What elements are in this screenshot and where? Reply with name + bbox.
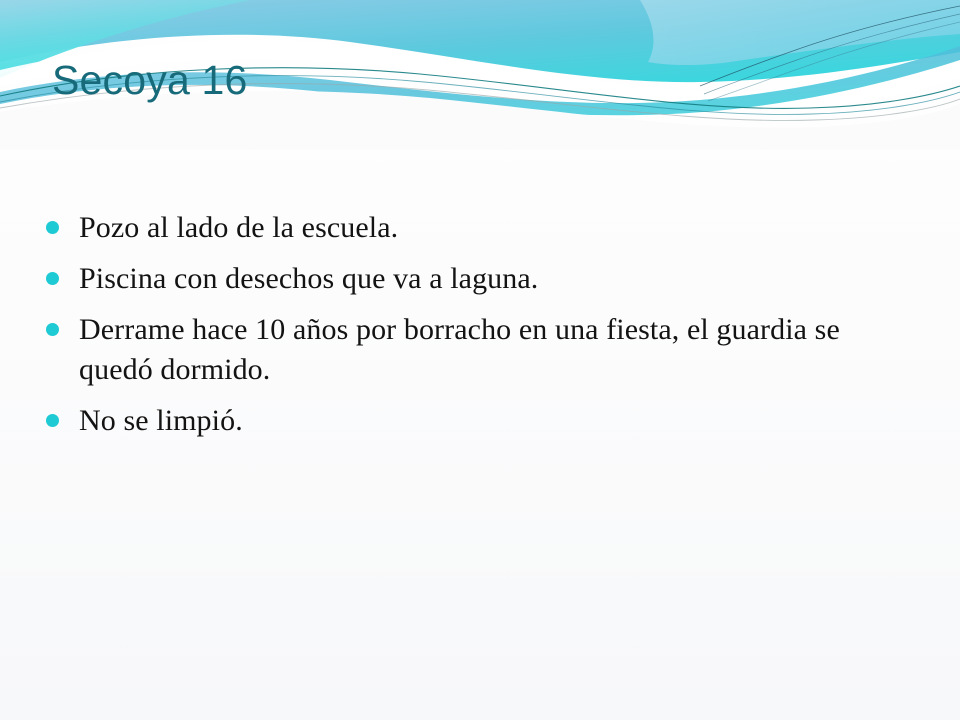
page-title: Secoya 16 [52, 58, 248, 104]
list-item-text: Pozo al lado de la escuela. [79, 208, 914, 248]
list-item-text: Piscina con desechos que va a laguna. [79, 259, 914, 299]
bullet-dot-icon [46, 323, 59, 336]
bullet-list: Pozo al lado de la escuela. Piscina con … [46, 208, 914, 451]
presentation-slide: Secoya 16 Pozo al lado de la escuela. Pi… [0, 0, 960, 720]
list-item-text: No se limpió. [79, 401, 914, 441]
list-item: Derrame hace 10 años por borracho en una… [46, 310, 914, 390]
list-item-text: Derrame hace 10 años por borracho en una… [79, 310, 851, 390]
bullet-dot-icon [46, 414, 59, 427]
list-item: Piscina con desechos que va a laguna. [46, 259, 914, 299]
list-item: No se limpió. [46, 401, 914, 441]
bullet-dot-icon [46, 221, 59, 234]
list-item: Pozo al lado de la escuela. [46, 208, 914, 248]
bullet-dot-icon [46, 272, 59, 285]
